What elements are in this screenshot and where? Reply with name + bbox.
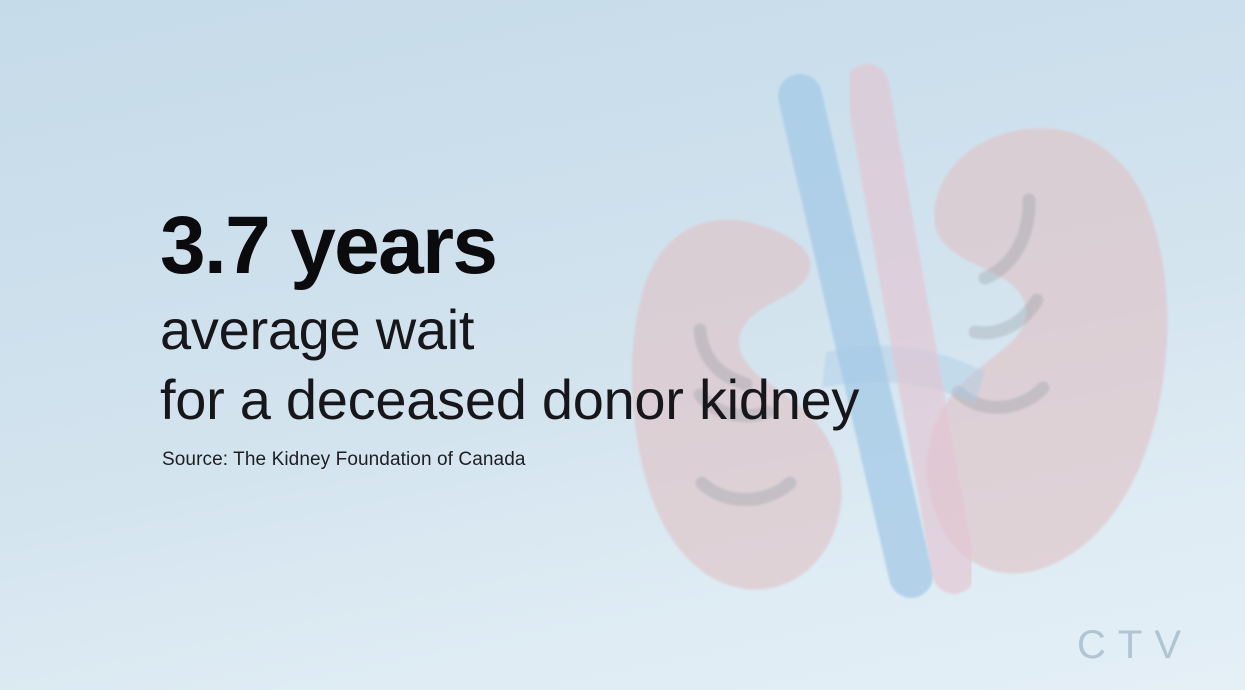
headline-stat: 3.7 years <box>160 206 960 286</box>
source-attribution: Source: The Kidney Foundation of Canada <box>162 449 960 471</box>
stat-text-block: 3.7 years average wait for a deceased do… <box>160 206 960 471</box>
ctv-network-logo: CTV <box>1077 623 1193 668</box>
subheadline-line-2: for a deceased donor kidney <box>160 370 960 429</box>
graphic-stage: 3.7 years average wait for a deceased do… <box>0 0 1245 690</box>
right-kidney-shape <box>927 128 1168 573</box>
right-kidney-detail-strokes <box>958 200 1043 407</box>
subheadline-line-1: average wait <box>160 300 960 359</box>
